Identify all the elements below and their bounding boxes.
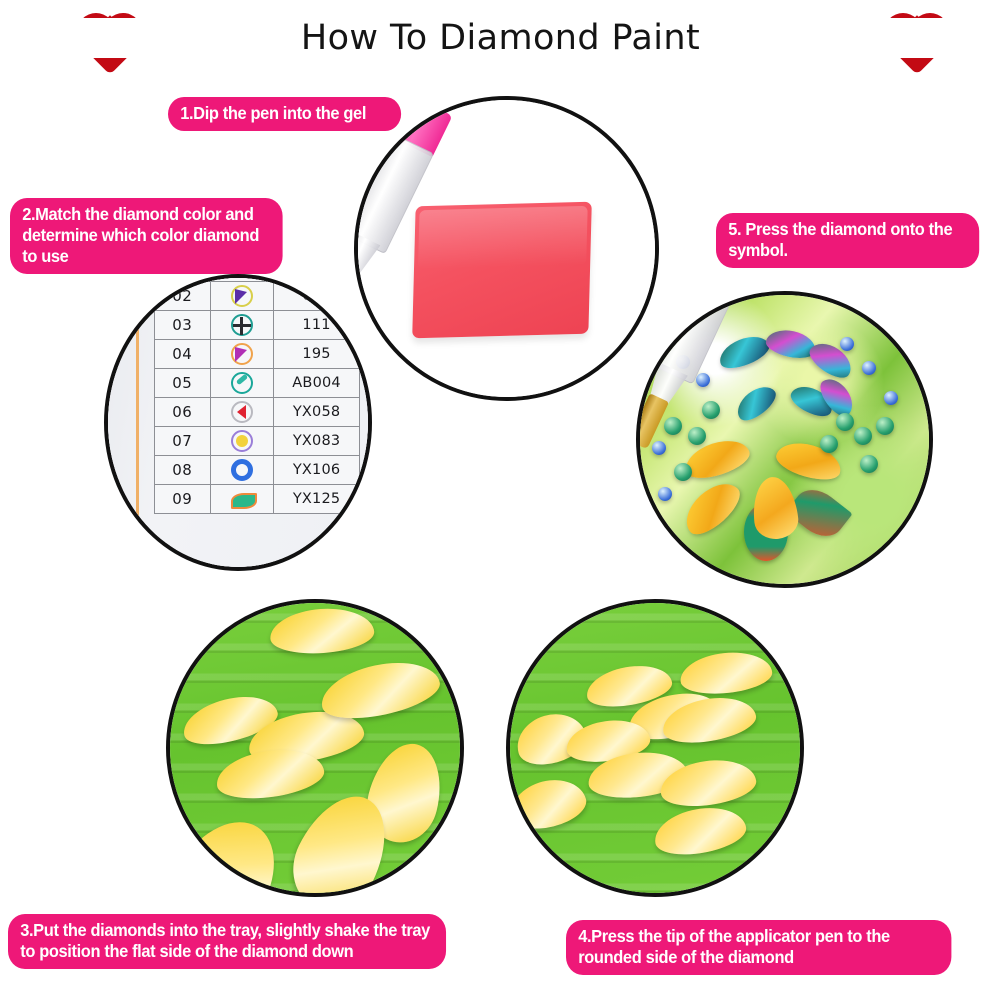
green-diamond-tray <box>510 603 800 893</box>
legend-row-number: 04 <box>155 340 211 369</box>
round-green-gem <box>674 463 692 481</box>
legend-row-number: 05 <box>155 369 211 398</box>
infographic-canvas: How To Diamond Paint 1.Dip the pen into … <box>0 0 1001 1001</box>
legend-row: 01020 <box>155 274 360 282</box>
diamond-color-legend-chart: 0102002093031110419505AB00406YX05807YX08… <box>104 274 372 571</box>
yellow-marquise-diamond <box>316 653 444 727</box>
legend-row-code: YX106 <box>274 456 360 485</box>
step-5-photo <box>636 291 933 588</box>
legend-symbol-cell <box>210 311 274 340</box>
round-blue-gem <box>862 361 876 375</box>
legend-row-code: 111 <box>274 311 360 340</box>
step-4-label: 4.Press the tip of the applicator pen to… <box>566 920 951 975</box>
yellow-marquise-diamond <box>678 648 774 697</box>
legend-symbol-cell <box>210 340 274 369</box>
double-dot-circle-icon <box>230 274 254 279</box>
legend-row-code: 020 <box>274 274 360 282</box>
triangle-circle-icon <box>230 284 254 308</box>
teal-marquise-gem <box>715 330 773 374</box>
legend-symbol-cell <box>210 282 274 311</box>
magenta-triangle-circle-icon <box>230 342 254 366</box>
legend-row-number: 02 <box>155 282 211 311</box>
legend-symbol-cell <box>210 274 274 282</box>
open-ring-circle-icon <box>230 458 254 482</box>
legend-row: 06YX058 <box>155 398 360 427</box>
green-diamond-tray <box>170 603 460 893</box>
legend-row-number: 09 <box>155 485 211 514</box>
legend-row: 03111 <box>155 311 360 340</box>
slash-circle-icon <box>230 371 254 395</box>
legend-row-code: 093 <box>274 282 360 311</box>
yellow-marquise-diamond <box>677 474 747 542</box>
legend-symbol-cell <box>210 427 274 456</box>
legend-symbol-cell <box>210 485 274 514</box>
legend-row-code: YX125 <box>274 485 360 514</box>
step-5-label: 5. Press the diamond onto the symbol. <box>716 213 979 268</box>
legend-row: 08YX106 <box>155 456 360 485</box>
legend-row-code: 195 <box>274 340 360 369</box>
round-green-gem <box>876 417 894 435</box>
round-green-gem <box>820 435 838 453</box>
yellow-marquise-diamond <box>166 803 296 897</box>
step-4-photo <box>506 599 804 897</box>
step-1-label: 1.Dip the pen into the gel <box>168 97 401 131</box>
page-title: How To Diamond Paint <box>0 18 1001 58</box>
round-green-gem <box>688 427 706 445</box>
legend-row-number: 03 <box>155 311 211 340</box>
step-2-label: 2.Match the diamond color and determine … <box>10 198 283 274</box>
round-green-gem <box>854 427 872 445</box>
round-green-gem <box>702 401 720 419</box>
step-2-photo: 0102002093031110419505AB00406YX05807YX08… <box>104 274 372 571</box>
legend-row: 02093 <box>155 282 360 311</box>
legend-row-number: 01 <box>155 274 211 282</box>
legend-row-number: 08 <box>155 456 211 485</box>
red-gel-pad <box>412 202 592 339</box>
round-green-gem <box>836 413 854 431</box>
round-blue-gem <box>840 337 854 351</box>
teal-marquise-gem <box>731 380 780 426</box>
legend-table: 0102002093031110419505AB00406YX05807YX08… <box>154 274 360 514</box>
legend-row-number: 06 <box>155 398 211 427</box>
step-1-photo <box>354 96 659 401</box>
yellow-marquise-diamond <box>506 772 590 835</box>
legend-symbol-cell <box>210 369 274 398</box>
legend-symbol-cell <box>210 456 274 485</box>
legend-row-code: YX058 <box>274 398 360 427</box>
legend-row-number: 07 <box>155 427 211 456</box>
step-3-photo <box>166 599 464 897</box>
leaf-marquise-icon <box>230 487 254 511</box>
yellow-marquise-diamond <box>269 605 376 656</box>
round-green-gem <box>860 455 878 473</box>
yellow-marquise-diamond <box>651 801 749 860</box>
legend-row-code: AB004 <box>274 369 360 398</box>
pen-gold-tip <box>506 666 519 731</box>
legend-row-code: YX083 <box>274 427 360 456</box>
legend-row: 04195 <box>155 340 360 369</box>
legend-row: 09YX125 <box>155 485 360 514</box>
left-arrow-circle-icon <box>230 400 254 424</box>
dot-in-ring-circle-icon <box>230 429 254 453</box>
legend-row: 05AB004 <box>155 369 360 398</box>
round-blue-gem <box>658 487 672 501</box>
round-blue-gem <box>884 391 898 405</box>
step-3-label: 3.Put the diamonds into the tray, slight… <box>8 914 446 969</box>
legend-row: 07YX083 <box>155 427 360 456</box>
plus-circle-icon <box>230 313 254 337</box>
legend-symbol-cell <box>210 398 274 427</box>
